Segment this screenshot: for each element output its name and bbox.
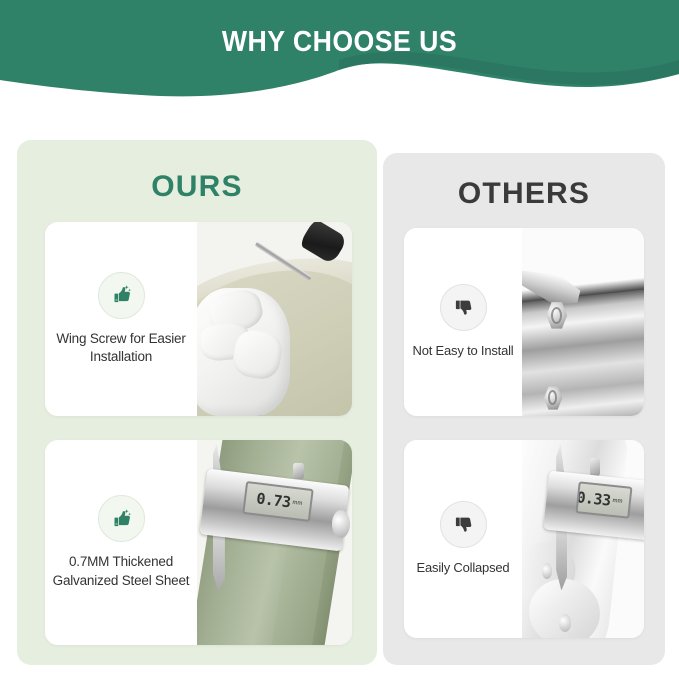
photo-caliper-white-panel: 0.33 mm bbox=[522, 440, 644, 638]
feature-card-ours-1[interactable]: Wing Screw for Easier Installation bbox=[45, 222, 352, 416]
feature-label: Not Easy to Install bbox=[413, 342, 514, 359]
feature-card-ours-2[interactable]: 0.7MM Thickened Galvanized Steel Sheet 0… bbox=[45, 440, 352, 645]
photo-caliper-sage-panel: 0.73 mm bbox=[197, 440, 352, 645]
feature-card-others-2[interactable]: Easily Collapsed 0.33 mm bbox=[404, 440, 644, 638]
feature-label: 0.7MM Thickened Galvanized Steel Sheet bbox=[51, 553, 191, 589]
caliper-unit: mm bbox=[291, 500, 302, 507]
feature-text-block: 0.7MM Thickened Galvanized Steel Sheet bbox=[45, 440, 197, 645]
thumbs-down-icon bbox=[440, 501, 487, 548]
caliper-display: 0.33 mm bbox=[575, 481, 632, 518]
feature-label: Wing Screw for Easier Installation bbox=[51, 330, 191, 366]
caliper-value: 0.33 bbox=[576, 488, 612, 509]
photo-wing-screw-installation bbox=[197, 222, 352, 416]
column-title-ours: OURS bbox=[17, 170, 377, 204]
feature-text-block: Easily Collapsed bbox=[404, 440, 522, 638]
caliper-value: 0.73 bbox=[255, 490, 291, 512]
feature-text-block: Wing Screw for Easier Installation bbox=[45, 222, 197, 416]
thumbs-up-icon bbox=[98, 272, 145, 319]
feature-card-others-1[interactable]: Not Easy to Install bbox=[404, 228, 644, 416]
feature-label: Easily Collapsed bbox=[417, 559, 510, 576]
thumbs-up-icon bbox=[98, 495, 145, 542]
why-choose-us-comparison-page: WHY CHOOSE US OURS Wing Screw for Eas bbox=[0, 0, 679, 679]
feature-text-block: Not Easy to Install bbox=[404, 228, 522, 416]
caliper-unit: mm bbox=[612, 497, 623, 504]
comparison-columns: OURS Wing Screw for Easier Installation bbox=[0, 0, 679, 679]
photo-wrench-hex-bolts bbox=[522, 228, 644, 416]
column-title-others: OTHERS bbox=[383, 177, 665, 211]
thumbs-down-icon bbox=[440, 284, 487, 331]
